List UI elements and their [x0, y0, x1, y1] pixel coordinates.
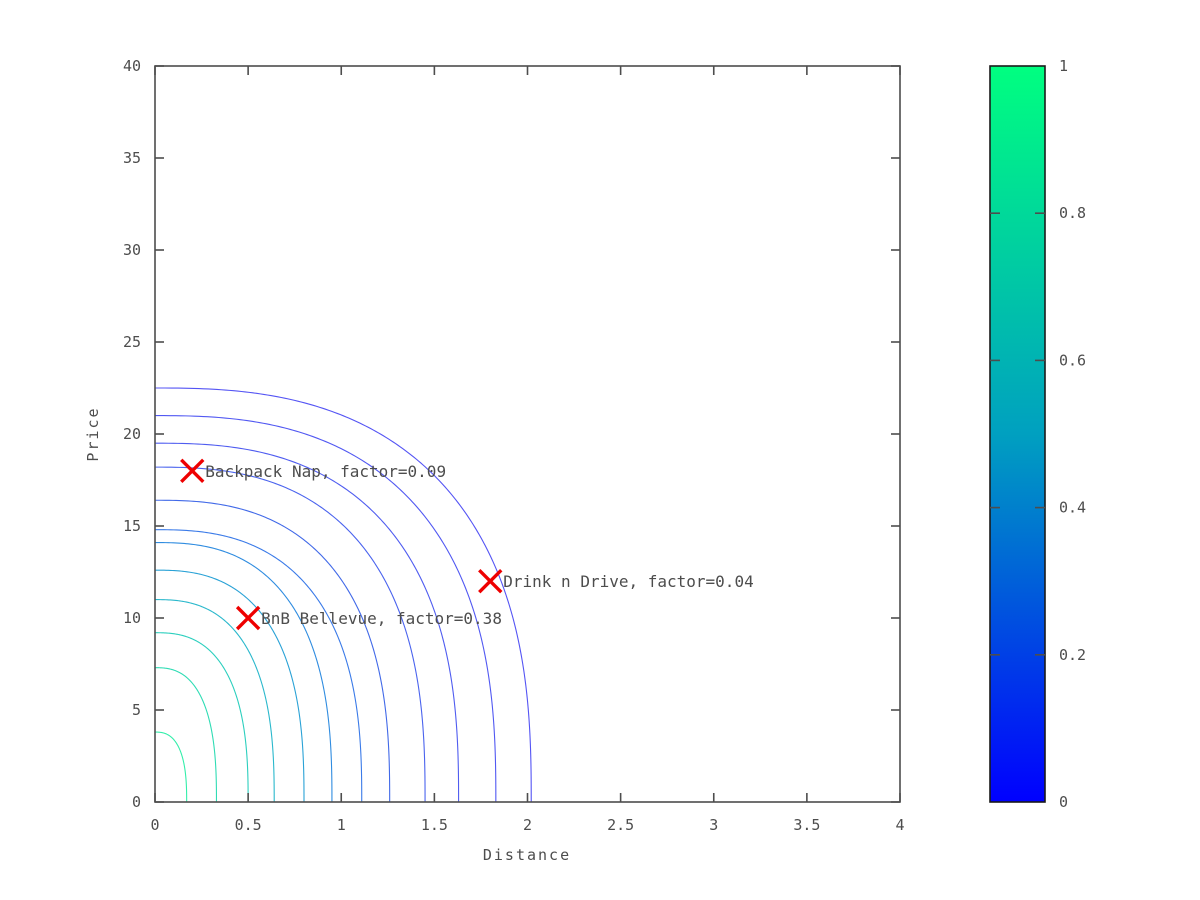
y-axis-title: Price	[84, 406, 102, 461]
colorbar-tick-label: 1	[1059, 57, 1068, 75]
contour-line	[155, 530, 362, 802]
x-tick-label: 3	[709, 816, 718, 834]
contour-line	[155, 543, 332, 802]
marker-label: BnB Bellevue, factor=0.38	[261, 609, 502, 628]
y-tick-label: 35	[123, 149, 141, 167]
y-tick-label: 10	[123, 609, 141, 627]
x-tick-label: 0	[150, 816, 159, 834]
y-tick-label: 30	[123, 241, 141, 259]
data-point-markers: Backpack Nap, factor=0.09Drink n Drive, …	[181, 460, 753, 629]
colorbar-gradient	[990, 66, 1045, 802]
contour-plot-figure: 00.511.522.533.54 0510152025303540 Dista…	[0, 0, 1200, 900]
marker-group[interactable]: Drink n Drive, factor=0.04	[479, 570, 753, 592]
x-tick-label: 0.5	[235, 816, 262, 834]
x-axis-ticks: 00.511.522.533.54	[150, 66, 904, 834]
y-tick-label: 20	[123, 425, 141, 443]
contour-lines	[155, 388, 531, 802]
y-tick-label: 5	[132, 701, 141, 719]
y-tick-label: 15	[123, 517, 141, 535]
x-tick-label: 2.5	[607, 816, 634, 834]
contour-line	[155, 600, 274, 802]
marker-group[interactable]: BnB Bellevue, factor=0.38	[237, 607, 502, 629]
y-tick-label: 25	[123, 333, 141, 351]
x-tick-label: 2	[523, 816, 532, 834]
x-tick-label: 1	[337, 816, 346, 834]
colorbar-tick-label: 0.2	[1059, 646, 1086, 664]
contour-line	[155, 467, 425, 802]
plot-canvas: 00.511.522.533.54 0510152025303540 Dista…	[0, 0, 1200, 900]
colorbar-tick-label: 0.4	[1059, 499, 1086, 517]
colorbar-tick-label: 0	[1059, 793, 1068, 811]
contour-line	[155, 500, 390, 802]
marker-group[interactable]: Backpack Nap, factor=0.09	[181, 460, 446, 482]
colorbar-tick-label: 0.8	[1059, 204, 1086, 222]
contour-line	[155, 732, 187, 802]
x-tick-label: 4	[895, 816, 904, 834]
x-axis-title: Distance	[483, 846, 571, 864]
y-tick-label: 40	[123, 57, 141, 75]
marker-label: Drink n Drive, factor=0.04	[503, 572, 753, 591]
plot-frame	[155, 66, 900, 802]
contour-line	[155, 633, 248, 802]
y-tick-label: 0	[132, 793, 141, 811]
x-tick-label: 1.5	[421, 816, 448, 834]
x-tick-label: 3.5	[793, 816, 820, 834]
colorbar-tick-label: 0.6	[1059, 351, 1086, 369]
contour-line	[155, 570, 304, 802]
y-axis-ticks: 0510152025303540	[123, 57, 900, 811]
marker-label: Backpack Nap, factor=0.09	[205, 462, 446, 481]
